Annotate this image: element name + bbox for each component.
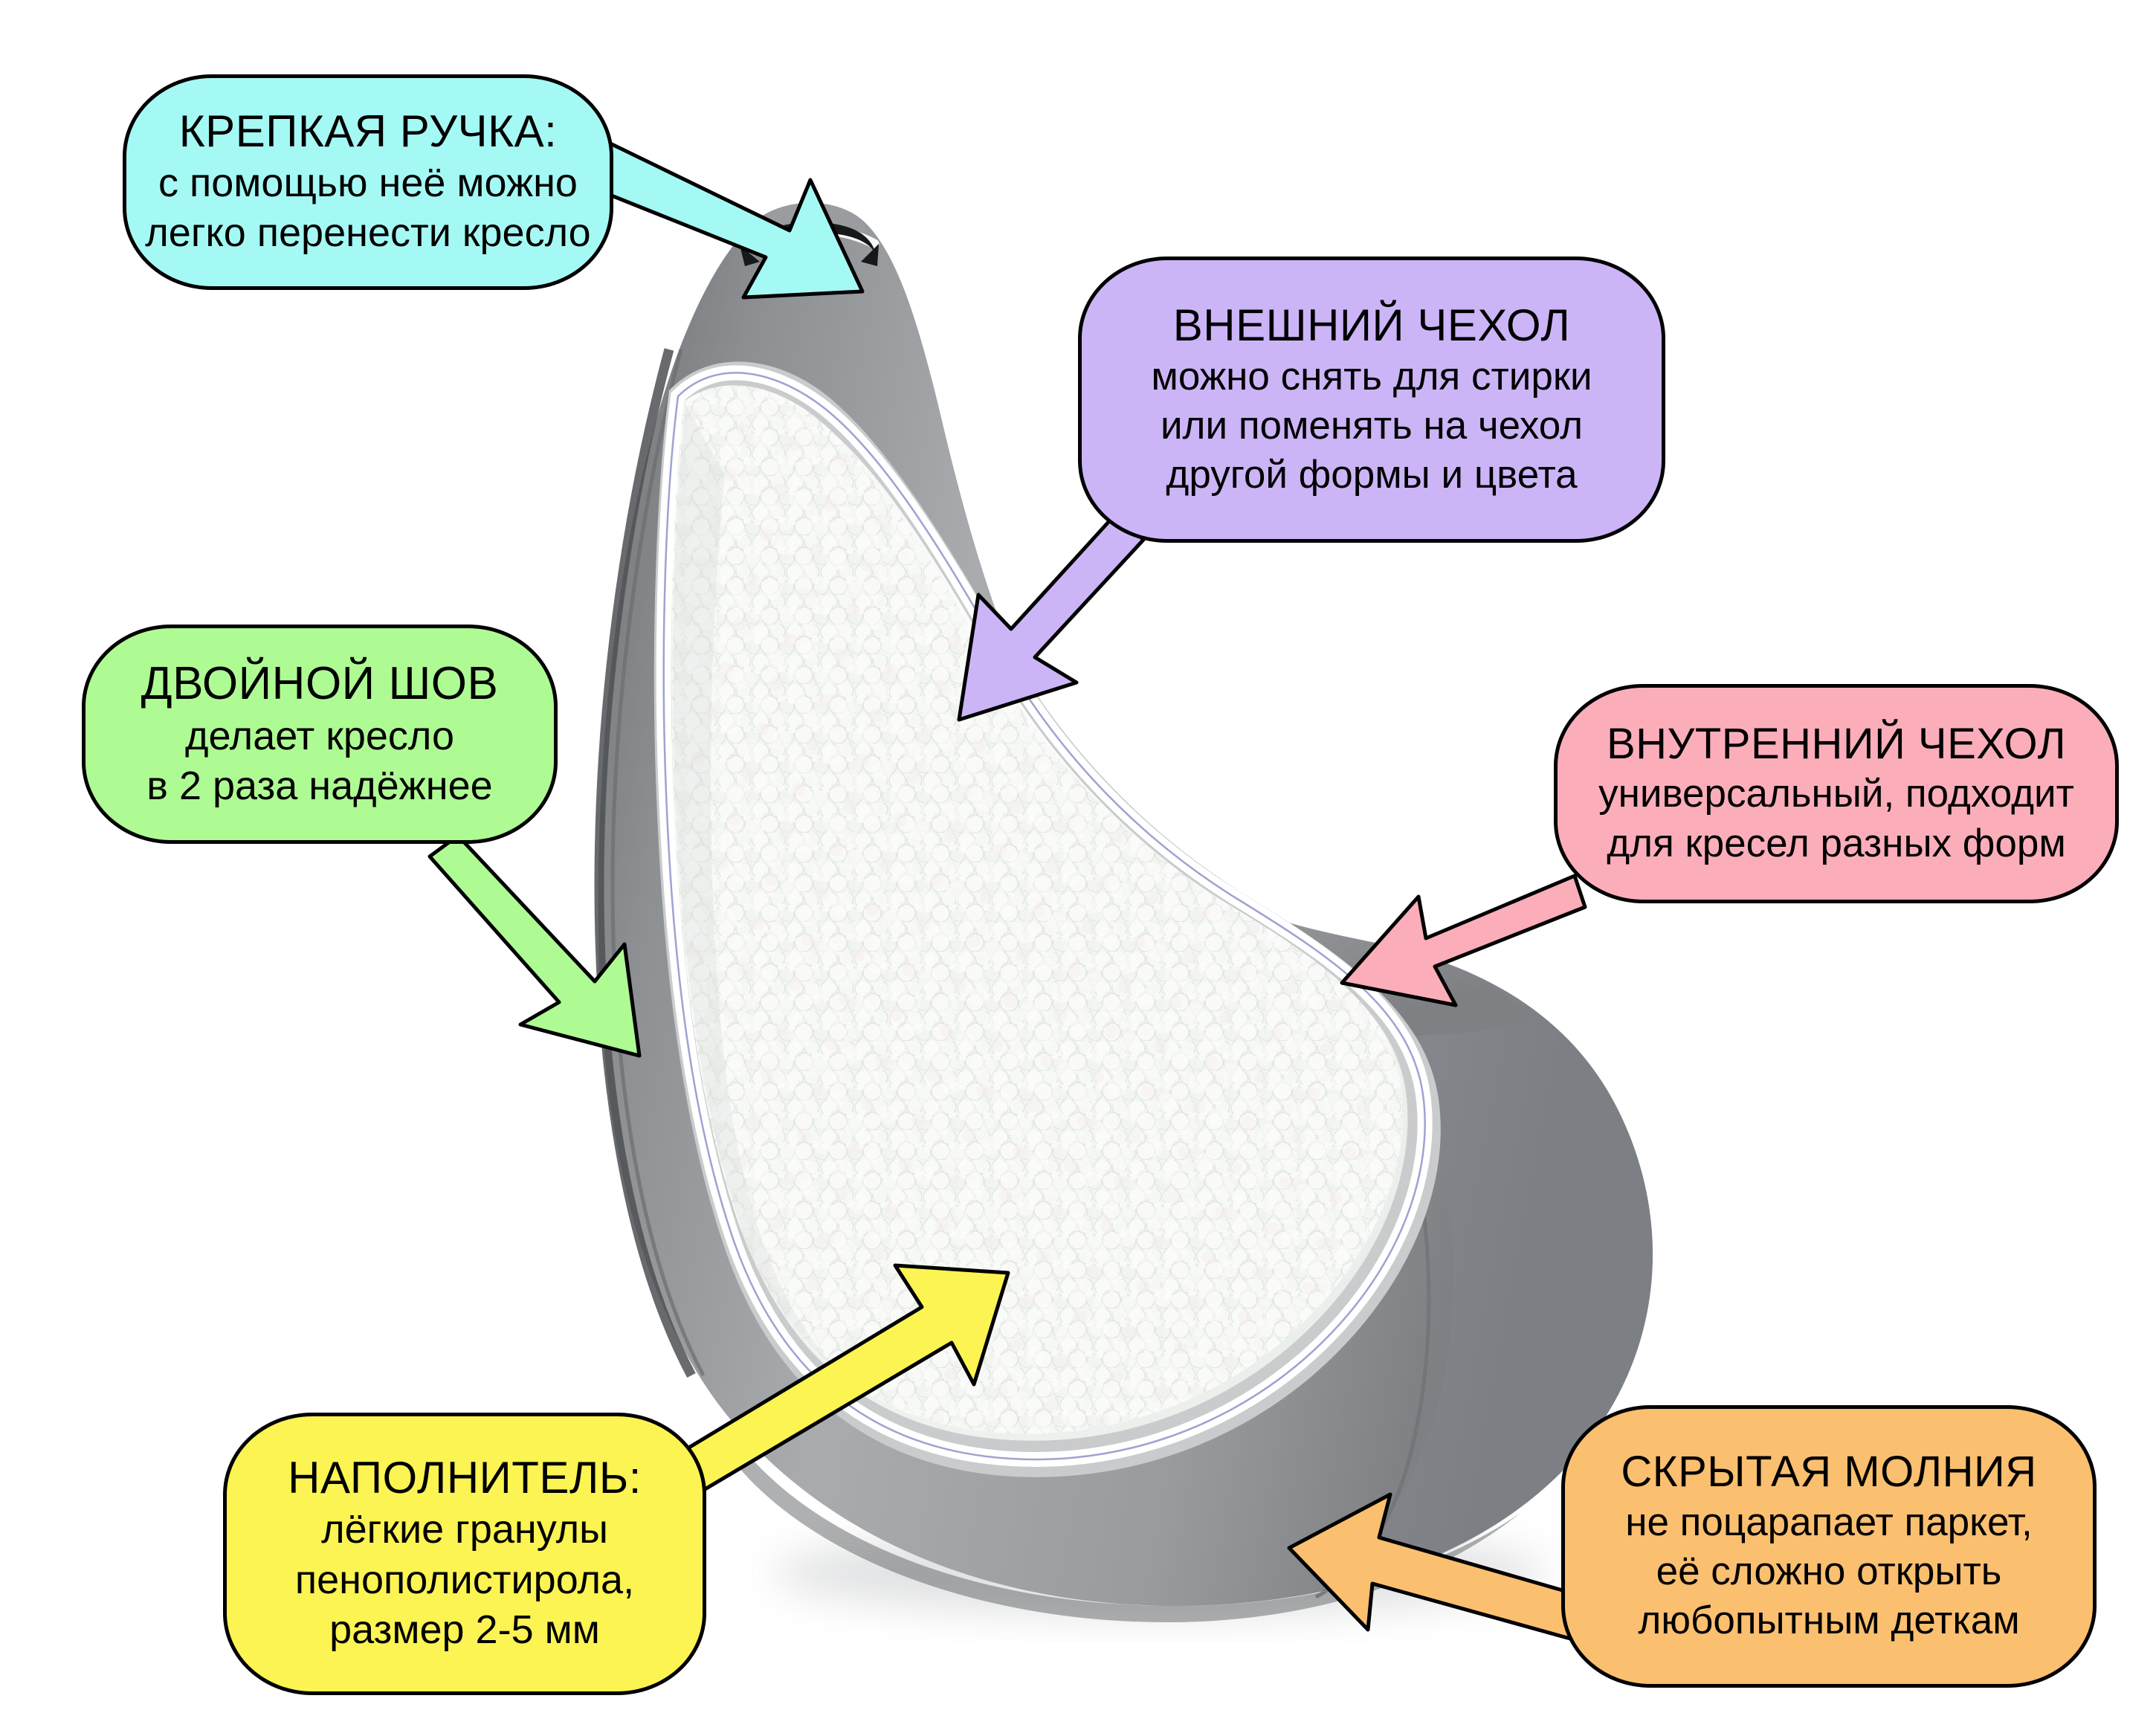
callout-filler[interactable]: НАПОЛНИТЕЛЬ: лёгкие гранулы пенополистир… [223, 1413, 706, 1695]
callout-line: другой формы и цвета [1166, 451, 1577, 500]
callout-line: пенополистирола, [295, 1555, 634, 1606]
callout-title: ДВОЙНОЙ ШОВ [141, 656, 499, 711]
callout-line: любопытным деткам [1638, 1596, 2019, 1645]
callout-line: её сложно открыть [1656, 1547, 2002, 1596]
callout-outer-cover[interactable]: ВНЕШНИЙ ЧЕХОЛ можно снять для стирки или… [1078, 256, 1665, 543]
callout-title: ВНУТРЕННИЙ ЧЕХОЛ [1607, 719, 2066, 769]
callout-strong-handle[interactable]: КРЕПКАЯ РУЧКА: с помощью неё можно легко… [123, 74, 613, 290]
callout-hidden-zipper[interactable]: СКРЫТАЯ МОЛНИЯ не поцарапает паркет, её … [1561, 1405, 2097, 1688]
infographic-canvas: КРЕПКАЯ РУЧКА: с помощью неё можно легко… [0, 0, 2156, 1710]
callout-line: или поменять на чехол [1161, 401, 1583, 451]
callout-title: СКРЫТАЯ МОЛНИЯ [1621, 1447, 2036, 1497]
callout-line: можно снять для стирки [1151, 352, 1592, 401]
arrow-seam-icon [430, 836, 639, 1056]
callout-line: универсальный, подходит [1598, 769, 2074, 819]
arrow-outer-cover-icon [959, 513, 1143, 720]
callout-title: КРЕПКАЯ РУЧКА: [179, 106, 558, 158]
callout-line: в 2 раза надёжнее [146, 761, 492, 812]
callout-title: ВНЕШНИЙ ЧЕХОЛ [1173, 300, 1571, 352]
callout-line: делает кресло [185, 712, 454, 762]
arrow-zipper-icon [1289, 1494, 1581, 1639]
callout-title: НАПОЛНИТЕЛЬ: [288, 1452, 642, 1505]
callout-line: для кресел разных форм [1607, 819, 2066, 868]
arrow-inner-cover-icon [1342, 876, 1585, 1005]
callout-line: лёгкие гранулы [321, 1505, 608, 1555]
callout-line: легко перенести кресло [145, 208, 590, 259]
callout-line: с помощью неё можно [158, 158, 578, 209]
callout-line: размер 2-5 мм [329, 1605, 600, 1656]
callout-inner-cover[interactable]: ВНУТРЕННИЙ ЧЕХОЛ универсальный, подходит… [1554, 684, 2119, 903]
callout-line: не поцарапает паркет, [1625, 1498, 2033, 1547]
callout-double-seam[interactable]: ДВОЙНОЙ ШОВ делает кресло в 2 раза надёж… [82, 625, 558, 844]
